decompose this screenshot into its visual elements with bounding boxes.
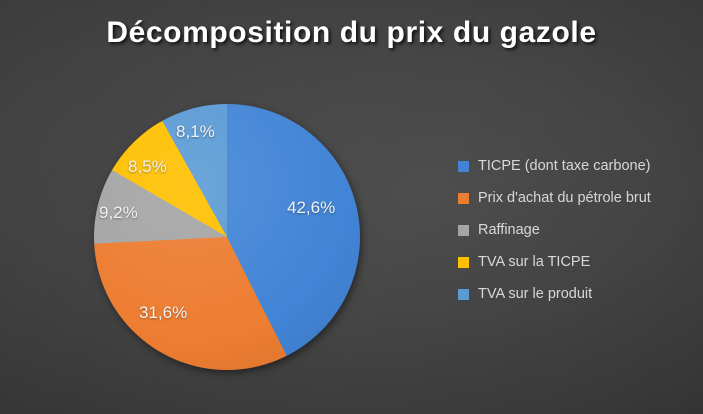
legend-item[interactable]: Prix d'achat du pétrole brut	[458, 182, 694, 214]
legend-color-swatch-icon	[458, 257, 469, 268]
legend-color-swatch-icon	[458, 289, 469, 300]
legend-item-label: TICPE (dont taxe carbone)	[478, 159, 650, 174]
slice-data-label: 8,1%	[176, 122, 215, 142]
chart-legend[interactable]: TICPE (dont taxe carbone)Prix d'achat du…	[458, 150, 694, 310]
legend-item[interactable]: TVA sur le produit	[458, 278, 694, 310]
legend-item[interactable]: TVA sur la TICPE	[458, 246, 694, 278]
legend-item-label: TVA sur la TICPE	[478, 255, 590, 270]
legend-color-swatch-icon	[458, 225, 469, 236]
slice-data-label: 42,6%	[287, 198, 335, 218]
slice-data-label: 8,5%	[128, 157, 167, 177]
legend-item-label: Prix d'achat du pétrole brut	[478, 191, 651, 206]
legend-color-swatch-icon	[458, 161, 469, 172]
legend-color-swatch-icon	[458, 193, 469, 204]
legend-item[interactable]: TICPE (dont taxe carbone)	[458, 150, 694, 182]
legend-item[interactable]: Raffinage	[458, 214, 694, 246]
slice-data-label: 31,6%	[139, 303, 187, 323]
slice-data-label: 9,2%	[99, 203, 138, 223]
legend-item-label: TVA sur le produit	[478, 287, 592, 302]
slide-canvas: Décomposition du prix du gazole 42,6%31,…	[0, 0, 703, 414]
legend-item-label: Raffinage	[478, 223, 540, 238]
pie-slices[interactable]	[94, 104, 360, 370]
pie-graphic[interactable]	[94, 104, 360, 370]
